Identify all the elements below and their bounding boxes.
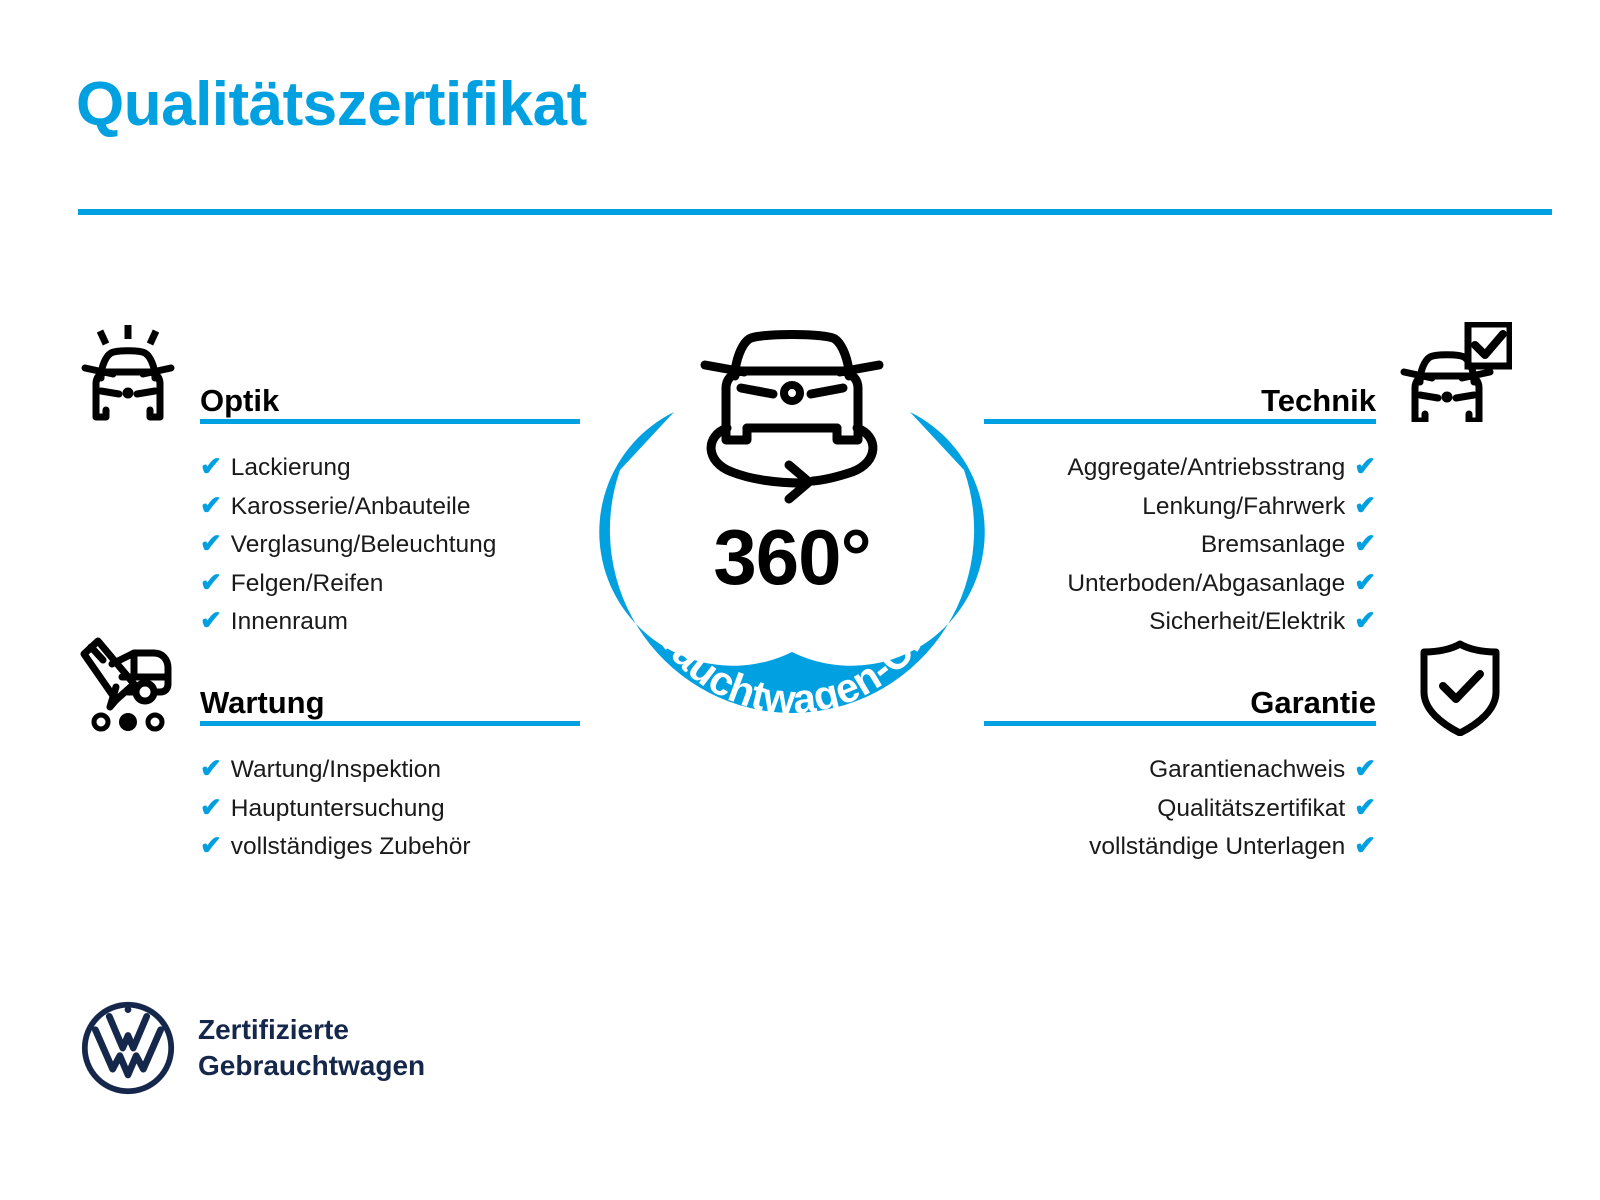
section-wartung-divider <box>200 721 580 726</box>
list-item: Bremsanlage✔ <box>984 525 1376 564</box>
car-checkbox-icon <box>1400 322 1512 422</box>
check-icon: ✔ <box>1354 448 1376 485</box>
list-item: Aggregate/Antriebsstrang✔ <box>984 448 1376 487</box>
section-technik: Technik Aggregate/Antriebsstrang✔ Lenkun… <box>984 368 1376 641</box>
section-garantie-items: Garantienachweis✔ Qualitätszertifikat✔ v… <box>984 750 1376 866</box>
list-item: Unterboden/Abgasanlage✔ <box>984 564 1376 603</box>
section-garantie-header: Garantie <box>984 670 1376 726</box>
section-wartung-header: Wartung <box>200 670 580 726</box>
section-technik-title: Technik <box>1261 385 1376 416</box>
list-item-label: Sicherheit/Elektrik <box>1149 608 1345 635</box>
list-item-label: Felgen/Reifen <box>231 570 384 597</box>
list-item: ✔Wartung/Inspektion <box>200 750 580 789</box>
check-icon: ✔ <box>200 602 222 639</box>
badge-center-label: 360° <box>562 518 1022 596</box>
section-technik-items: Aggregate/Antriebsstrang✔ Lenkung/Fahrwe… <box>984 448 1376 641</box>
section-optik-header: Optik <box>200 368 580 424</box>
list-item-label: Aggregate/Antriebsstrang <box>1067 454 1345 481</box>
footer-line-1: Zertifizierte <box>198 1012 425 1048</box>
list-item: Sicherheit/Elektrik✔ <box>984 602 1376 641</box>
badge-360-check: Gebrauchtwagen-Check <box>562 300 1022 770</box>
check-icon: ✔ <box>1354 602 1376 639</box>
list-item-label: vollständige Unterlagen <box>1089 833 1345 860</box>
list-item: ✔Verglasung/Beleuchtung <box>200 525 580 564</box>
list-item-label: Verglasung/Beleuchtung <box>231 531 497 558</box>
list-item: ✔Innenraum <box>200 602 580 641</box>
section-garantie: Garantie Garantienachweis✔ Qualitätszert… <box>984 670 1376 866</box>
check-icon: ✔ <box>1354 525 1376 562</box>
list-item-label: Wartung/Inspektion <box>231 756 441 783</box>
list-item-label: Lackierung <box>231 454 351 481</box>
list-item: ✔Karosserie/Anbauteile <box>200 487 580 526</box>
list-item: ✔Lackierung <box>200 448 580 487</box>
shield-check-icon <box>1404 636 1516 736</box>
list-item-label: Hauptuntersuchung <box>231 795 445 822</box>
footer-line-2: Gebrauchtwagen <box>198 1048 425 1084</box>
check-icon: ✔ <box>200 564 222 601</box>
check-icon: ✔ <box>200 448 222 485</box>
section-garantie-title: Garantie <box>1250 687 1376 718</box>
check-icon: ✔ <box>1354 564 1376 601</box>
list-item: Lenkung/Fahrwerk✔ <box>984 487 1376 526</box>
section-technik-divider <box>984 419 1376 424</box>
check-icon: ✔ <box>1354 750 1376 787</box>
list-item-label: Lenkung/Fahrwerk <box>1142 493 1345 520</box>
list-item-label: Karosserie/Anbauteile <box>231 493 471 520</box>
section-wartung-title: Wartung <box>200 687 325 718</box>
check-icon: ✔ <box>200 827 222 864</box>
section-wartung: Wartung ✔Wartung/Inspektion ✔Hauptunters… <box>200 670 580 866</box>
list-item: ✔Felgen/Reifen <box>200 564 580 603</box>
vw-logo-icon <box>80 1000 176 1096</box>
list-item-label: vollständiges Zubehör <box>231 833 471 860</box>
section-optik-divider <box>200 419 580 424</box>
pencil-car-checklist-icon <box>72 632 184 732</box>
list-item: ✔vollständiges Zubehör <box>200 827 580 866</box>
check-icon: ✔ <box>200 789 222 826</box>
section-optik-title: Optik <box>200 385 279 416</box>
section-technik-header: Technik <box>984 368 1376 424</box>
list-item: ✔Hauptuntersuchung <box>200 789 580 828</box>
car-shine-icon <box>72 322 184 422</box>
list-item: Garantienachweis✔ <box>984 750 1376 789</box>
check-icon: ✔ <box>200 525 222 562</box>
footer-brand: Zertifizierte Gebrauchtwagen <box>80 1000 425 1096</box>
check-icon: ✔ <box>1354 487 1376 524</box>
section-wartung-items: ✔Wartung/Inspektion ✔Hauptuntersuchung ✔… <box>200 750 580 866</box>
check-icon: ✔ <box>200 487 222 524</box>
list-item: Qualitätszertifikat✔ <box>984 789 1376 828</box>
section-optik-items: ✔Lackierung ✔Karosserie/Anbauteile ✔Verg… <box>200 448 580 641</box>
check-icon: ✔ <box>200 750 222 787</box>
check-icon: ✔ <box>1354 789 1376 826</box>
section-garantie-divider <box>984 721 1376 726</box>
page-title: Qualitätszertifikat <box>76 74 587 136</box>
list-item: vollständige Unterlagen✔ <box>984 827 1376 866</box>
footer-brand-text: Zertifizierte Gebrauchtwagen <box>198 1012 425 1084</box>
list-item-label: Unterboden/Abgasanlage <box>1067 570 1345 597</box>
list-item-label: Garantienachweis <box>1149 756 1345 783</box>
list-item-label: Bremsanlage <box>1201 531 1345 558</box>
section-optik: Optik ✔Lackierung ✔Karosserie/Anbauteile… <box>200 368 580 641</box>
list-item-label: Qualitätszertifikat <box>1157 795 1345 822</box>
certificate-page: Qualitätszertifikat Optik ✔Lackierung ✔K… <box>0 0 1600 1200</box>
list-item-label: Innenraum <box>231 608 348 635</box>
check-icon: ✔ <box>1354 827 1376 864</box>
header-divider <box>78 209 1552 215</box>
